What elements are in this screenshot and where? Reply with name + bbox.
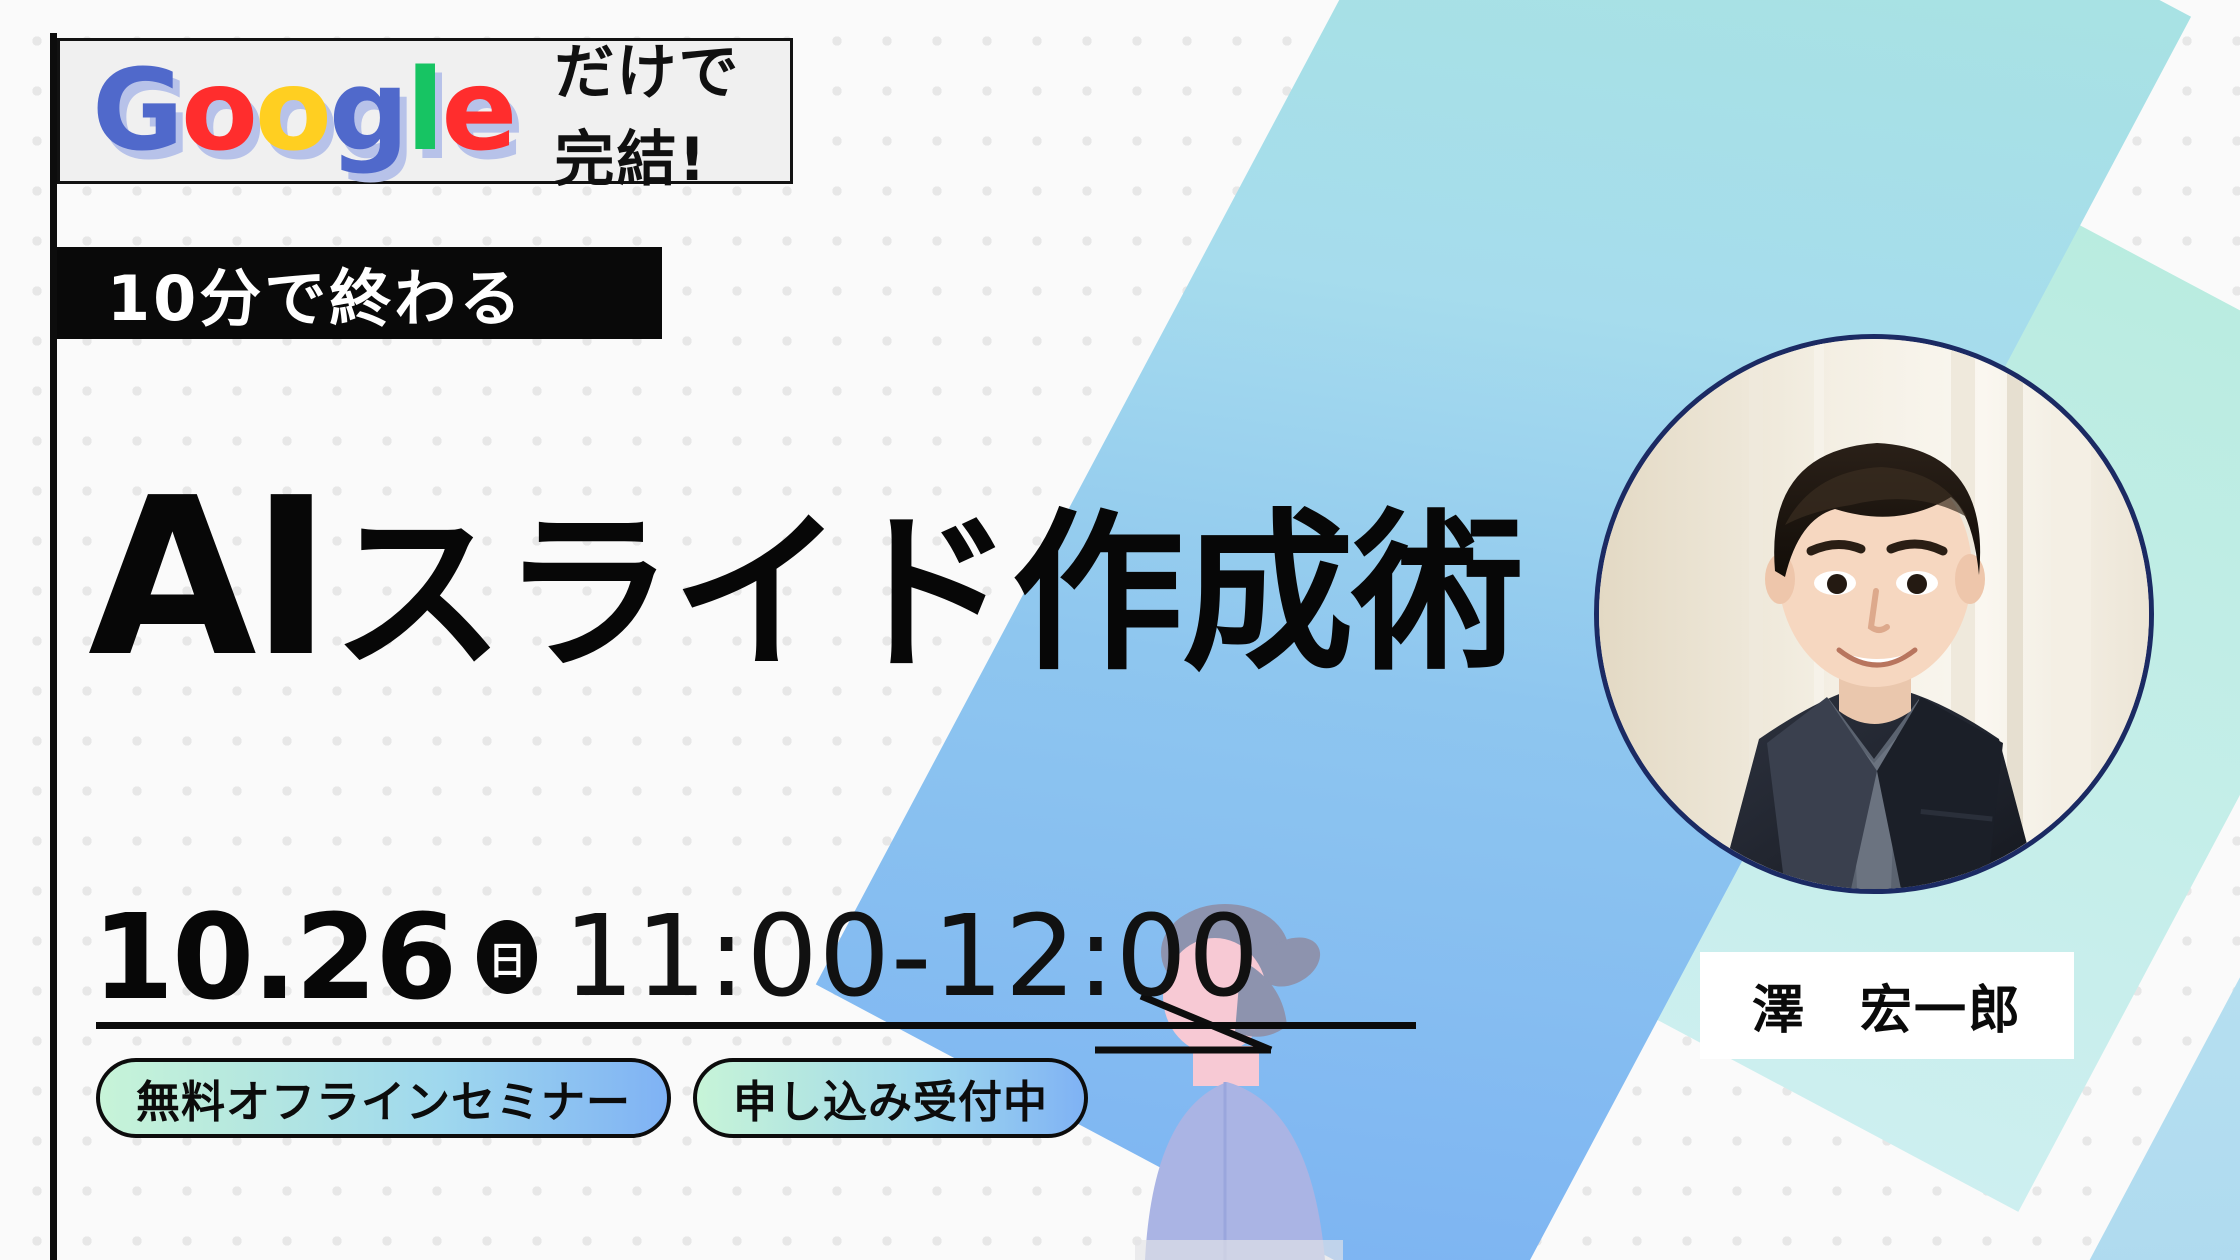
ribbon-badge: 10分で終わる [57, 247, 662, 339]
google-header-box: G o o g l e だけで完結! [57, 38, 793, 184]
portrait-illustration [1599, 339, 2149, 889]
ribbon-label: 10分で終わる [107, 248, 524, 338]
speaker-photo [1594, 334, 2154, 894]
left-vertical-rule [50, 33, 57, 1260]
weekday-badge: 日 [477, 920, 537, 994]
event-time: 11:00-12:00 [563, 892, 1260, 1022]
catchphrase-text: だけで完結! [554, 24, 790, 198]
google-logo-letter-e: e [441, 55, 514, 167]
event-date: 10.26 [92, 888, 455, 1026]
google-logo-letter-g: G [92, 55, 181, 167]
speaker-name-plate: 澤 宏一郎 [1700, 952, 2074, 1059]
google-logo-letter-l: l [406, 55, 441, 167]
google-logo-letter-o2: o [255, 55, 329, 167]
google-logo-letter-o1: o [181, 55, 255, 167]
title-lead: AI [88, 452, 326, 705]
schedule-underline [96, 1022, 1416, 1029]
schedule-row: 10.26 日 11:00-12:00 [92, 888, 1260, 1026]
tag-pill-free-seminar[interactable]: 無料オフラインセミナー [96, 1058, 671, 1138]
google-logo: G o o g l e [92, 55, 514, 167]
banner-canvas: G o o g l e だけで完結! 10分で終わる AI スライド作成術 [0, 0, 2240, 1260]
google-logo-letter-g2: g [329, 55, 406, 167]
tag-pill-accepting[interactable]: 申し込み受付中 [693, 1058, 1088, 1138]
tag-pill-group: 無料オフラインセミナー 申し込み受付中 [96, 1058, 1088, 1138]
page-title: AI スライド作成術 [88, 452, 1522, 705]
title-rest: スライド作成術 [332, 453, 1522, 703]
